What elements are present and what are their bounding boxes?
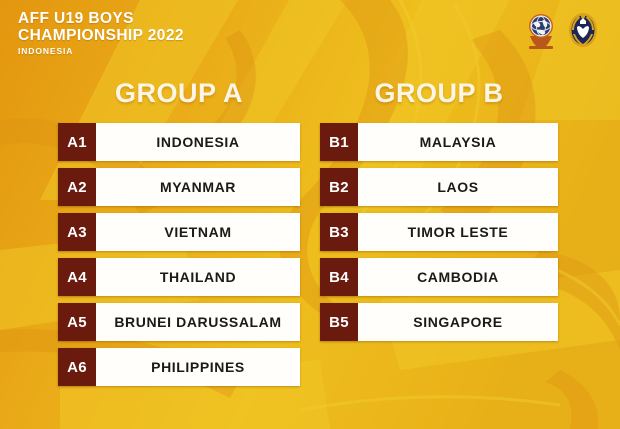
team-name-panel: THAILAND [96,258,300,296]
event-title-block: AFF U19 BOYS CHAMPIONSHIP 2022 INDONESIA [18,10,184,56]
team-code-badge: B2 [320,168,358,206]
team-code-badge: B5 [320,303,358,341]
team-code-badge: A3 [58,213,96,251]
team-code-badge: A5 [58,303,96,341]
team-name-panel: TIMOR LESTE [358,213,558,251]
table-row[interactable]: A1 INDONESIA [58,123,300,161]
team-name-panel: CAMBODIA [358,258,558,296]
logo-group [524,10,600,50]
pssi-logo-icon [566,10,600,50]
team-code-badge: A4 [58,258,96,296]
table-row[interactable]: A2 MYANMAR [58,168,300,206]
table-row[interactable]: B1 MALAYSIA [320,123,558,161]
table-row[interactable]: B3 TIMOR LESTE [320,213,558,251]
group-b-title: GROUP B [320,78,558,109]
team-code-badge: A2 [58,168,96,206]
table-row[interactable]: A5 BRUNEI DARUSSALAM [58,303,300,341]
team-name-panel: VIETNAM [96,213,300,251]
team-code-badge: B4 [320,258,358,296]
table-row[interactable]: B5 SINGAPORE [320,303,558,341]
team-name-panel: INDONESIA [96,123,300,161]
team-name-panel: PHILIPPINES [96,348,300,386]
group-a-column: GROUP A A1 INDONESIA A2 MYANMAR A3 VIETN… [58,78,300,393]
team-code-badge: A6 [58,348,96,386]
team-name-panel: SINGAPORE [358,303,558,341]
event-title-line2: CHAMPIONSHIP 2022 [18,27,184,44]
aff-logo-icon [524,10,558,50]
event-title-line1: AFF U19 BOYS [18,10,184,27]
table-row[interactable]: B4 CAMBODIA [320,258,558,296]
table-row[interactable]: A4 THAILAND [58,258,300,296]
group-b-column: GROUP B B1 MALAYSIA B2 LAOS B3 TIMOR LES… [320,78,558,348]
table-row[interactable]: B2 LAOS [320,168,558,206]
event-host-country: INDONESIA [18,46,184,56]
team-name-panel: LAOS [358,168,558,206]
team-code-badge: A1 [58,123,96,161]
group-a-title: GROUP A [58,78,300,109]
team-code-badge: B3 [320,213,358,251]
draw-graphic: AFF U19 BOYS CHAMPIONSHIP 2022 INDONESIA [0,0,620,429]
table-row[interactable]: A6 PHILIPPINES [58,348,300,386]
team-name-panel: MALAYSIA [358,123,558,161]
team-name-panel: BRUNEI DARUSSALAM [96,303,300,341]
team-name-panel: MYANMAR [96,168,300,206]
table-row[interactable]: A3 VIETNAM [58,213,300,251]
team-code-badge: B1 [320,123,358,161]
